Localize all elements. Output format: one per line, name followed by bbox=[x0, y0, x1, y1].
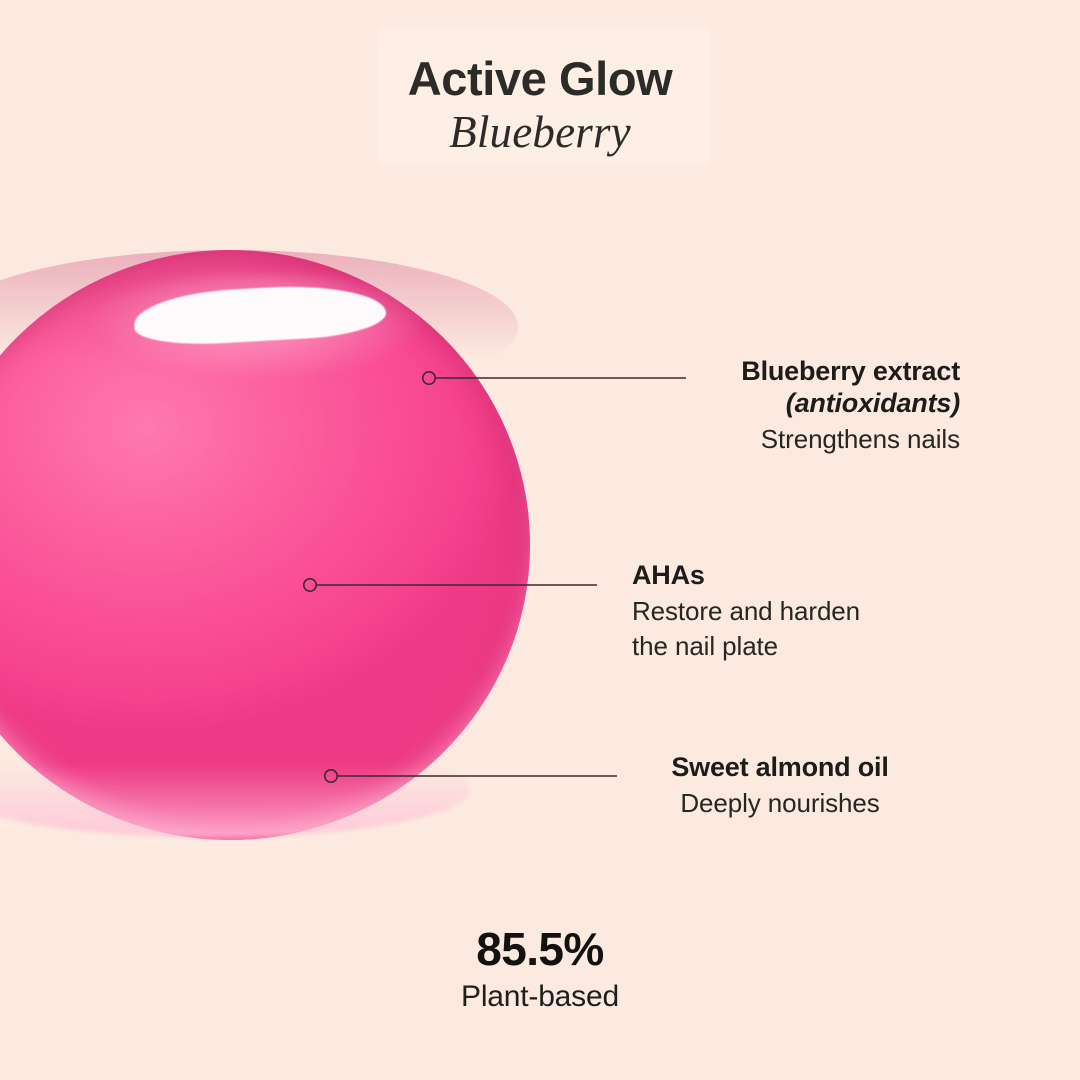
callout-3-title: Sweet almond oil bbox=[620, 752, 940, 784]
callout-1-note: (antioxidants) bbox=[660, 388, 960, 420]
callout-1-title: Blueberry extract bbox=[660, 356, 960, 388]
droplet-highlight bbox=[133, 281, 388, 348]
callout-2-description-line1: Restore and harden bbox=[632, 596, 972, 627]
infographic-canvas: Active Glow Blueberry Blueberry extract … bbox=[0, 0, 1080, 1080]
product-name: Active Glow bbox=[0, 54, 1080, 105]
page-title: Active Glow Blueberry bbox=[0, 54, 1080, 159]
stat-value: 85.5% bbox=[0, 924, 1080, 975]
product-droplet bbox=[0, 250, 530, 840]
callout-ahas: AHAs Restore and harden the nail plate bbox=[632, 560, 972, 662]
droplet-bottom-rim bbox=[0, 743, 470, 837]
callout-1-description: Strengthens nails bbox=[660, 424, 960, 455]
callout-2-description-line2: the nail plate bbox=[632, 631, 972, 662]
callout-2-title: AHAs bbox=[632, 560, 972, 592]
product-variant: Blueberry bbox=[0, 107, 1080, 159]
plant-based-stat: 85.5% Plant-based bbox=[0, 924, 1080, 1015]
callout-3-description: Deeply nourishes bbox=[620, 788, 940, 819]
stat-label: Plant-based bbox=[0, 979, 1080, 1015]
callout-sweet-almond-oil: Sweet almond oil Deeply nourishes bbox=[620, 752, 940, 819]
callout-blueberry-extract: Blueberry extract (antioxidants) Strengt… bbox=[660, 356, 960, 455]
